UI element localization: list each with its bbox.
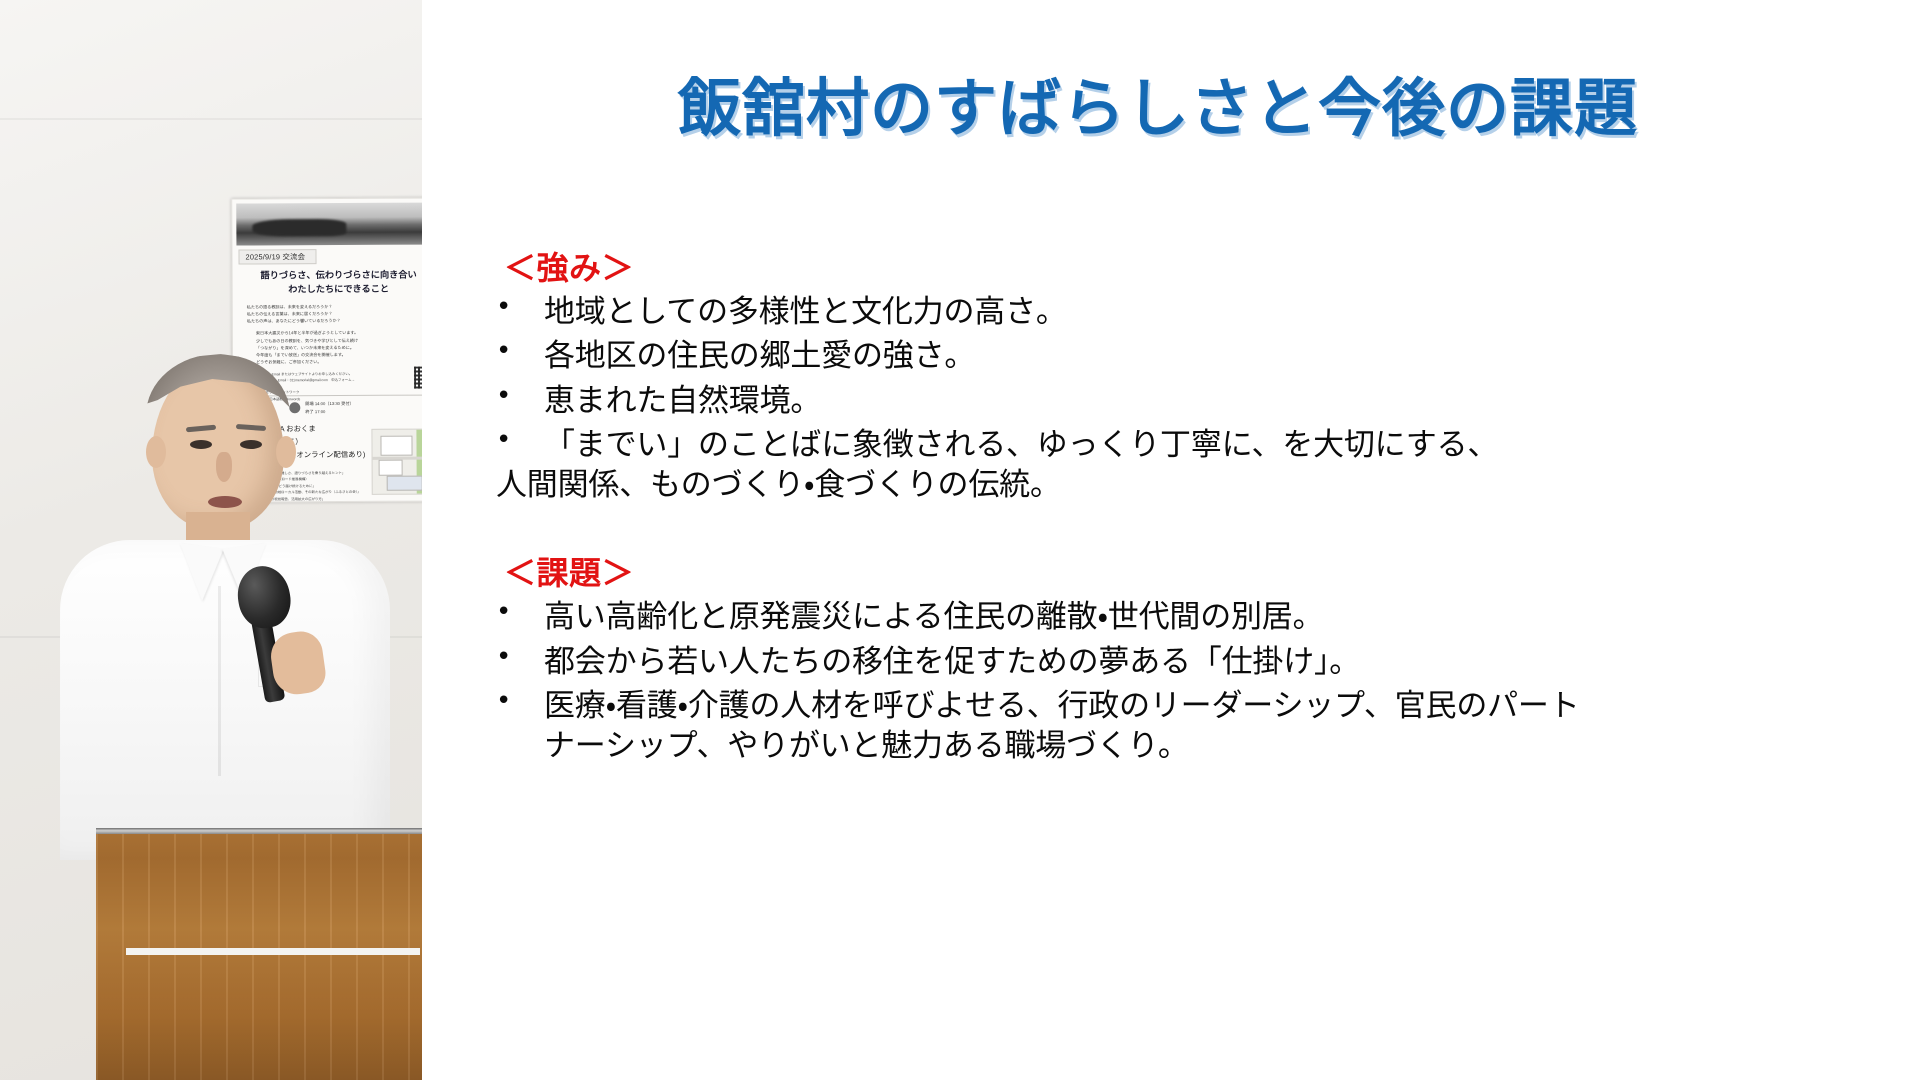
bullet-text: 地域としての多様性と文化力の高さ。 (544, 294, 1067, 330)
podium-wood-grain (96, 834, 422, 1080)
bullet-list-challenges: 高い高齢化と原発震災による住民の離散・世代間の別居。 都会から若い人たちの移住を… (496, 597, 1890, 766)
shirt-placket (218, 586, 221, 776)
presenter-ear-right (276, 436, 296, 468)
slide-content: 飯舘村のすばらしさと今後の課題 ＜強み＞ 地域としての多様性と文化力の高さ。 各… (422, 0, 1920, 1080)
wooden-podium (96, 828, 422, 1080)
list-item: 高い高齢化と原発震災による住民の離散・世代間の別居。 (496, 597, 1890, 637)
presenter-figure (0, 340, 422, 1080)
presenter-ear-left (146, 436, 166, 468)
section-challenges: ＜課題＞ 高い高齢化と原発震災による住民の離散・世代間の別居。 都会から若い人た… (496, 553, 1890, 766)
presenter-white-shirt (60, 540, 390, 860)
bullet-text: 各地区の住民の郷土愛の強さ。 (544, 338, 975, 374)
list-item: 地域としての多様性と文化力の高さ。 (496, 292, 1890, 332)
bullet-text: 「までい」のことばに象徴される、ゆっくり丁寧に、を大切にする、 (544, 427, 1498, 463)
section-heading-challenges: ＜課題＞ (504, 553, 1890, 593)
poster-banner-image (236, 202, 422, 245)
speaker-photo: 2025/9/19 交流会 語りづらさ、伝わりづらさに向き合い わたしたちにでき… (0, 0, 422, 1080)
poster-lead-line: 私たちの声は、あなたにどう響いているだろうか？ (247, 317, 422, 325)
poster-title-line1: 語りづらさ、伝わりづらさに向き合い (241, 268, 422, 283)
bullet-text: 高い高齢化と原発震災による住民の離散・世代間の別居。 (544, 599, 1323, 635)
page-title: 飯舘村のすばらしさと今後の課題 (422, 58, 1894, 149)
presenter-eye-right (240, 440, 262, 449)
slide-root: 2025/9/19 交流会 語りづらさ、伝わりづらさに向き合い わたしたちにでき… (0, 0, 1920, 1080)
section-strengths: ＜強み＞ 地域としての多様性と文化力の高さ。 各地区の住民の郷土愛の強さ。 恵ま… (496, 248, 1890, 505)
poster-title-line2: わたしたちにできること (241, 282, 422, 297)
bullet-text: 恵まれた自然環境。 (544, 383, 821, 419)
presenter-nose (216, 452, 232, 482)
list-item: 恵まれた自然環境。 (496, 381, 1890, 421)
list-item: 医療・看護・介護の人材を呼びよせる、行政のリーダーシップ、官民のパート ナーシッ… (496, 686, 1890, 767)
shirt-collar-left (172, 543, 223, 603)
poster-lead: 私たちの語る教訓は、未来を変えるだろうか？ 私たちの伝える言葉は、未来に届くだろ… (247, 303, 422, 325)
slide-body: ＜強み＞ 地域としての多様性と文化力の高さ。 各地区の住民の郷土愛の強さ。 恵ま… (496, 248, 1890, 771)
section-heading-strengths: ＜強み＞ (504, 248, 1890, 288)
list-item: 各地区の住民の郷土愛の強さ。 (496, 336, 1890, 376)
bullet-text-continued: ナーシップ、やりがいと魅力ある職場づくり。 (544, 726, 1890, 766)
poster-title: 語りづらさ、伝わりづらさに向き合い わたしたちにできること (241, 268, 422, 297)
bullet-text: 医療・看護・介護の人材を呼びよせる、行政のリーダーシップ、官民のパート (544, 688, 1580, 724)
list-item: 「までい」のことばに象徴される、ゆっくり丁寧に、を大切にする、 人間関係、ものづ… (496, 425, 1890, 506)
wall-seam-top (0, 118, 422, 120)
list-item: 都会から若い人たちの移住を促すための夢ある「仕掛け」。 (496, 642, 1890, 682)
bullet-list-strengths: 地域としての多様性と文化力の高さ。 各地区の住民の郷土愛の強さ。 恵まれた自然環… (496, 292, 1890, 505)
bullet-text: 都会から若い人たちの移住を促すための夢ある「仕掛け」。 (544, 644, 1360, 680)
presenter-eye-left (190, 440, 212, 449)
poster-date-tag: 2025/9/19 交流会 (238, 249, 316, 264)
podium-paper (126, 948, 420, 955)
bullet-text-continued: 人間関係、ものづくり・食づくりの伝統。 (496, 465, 1890, 505)
presenter-mouth (208, 496, 242, 508)
section-spacer (496, 509, 1890, 553)
